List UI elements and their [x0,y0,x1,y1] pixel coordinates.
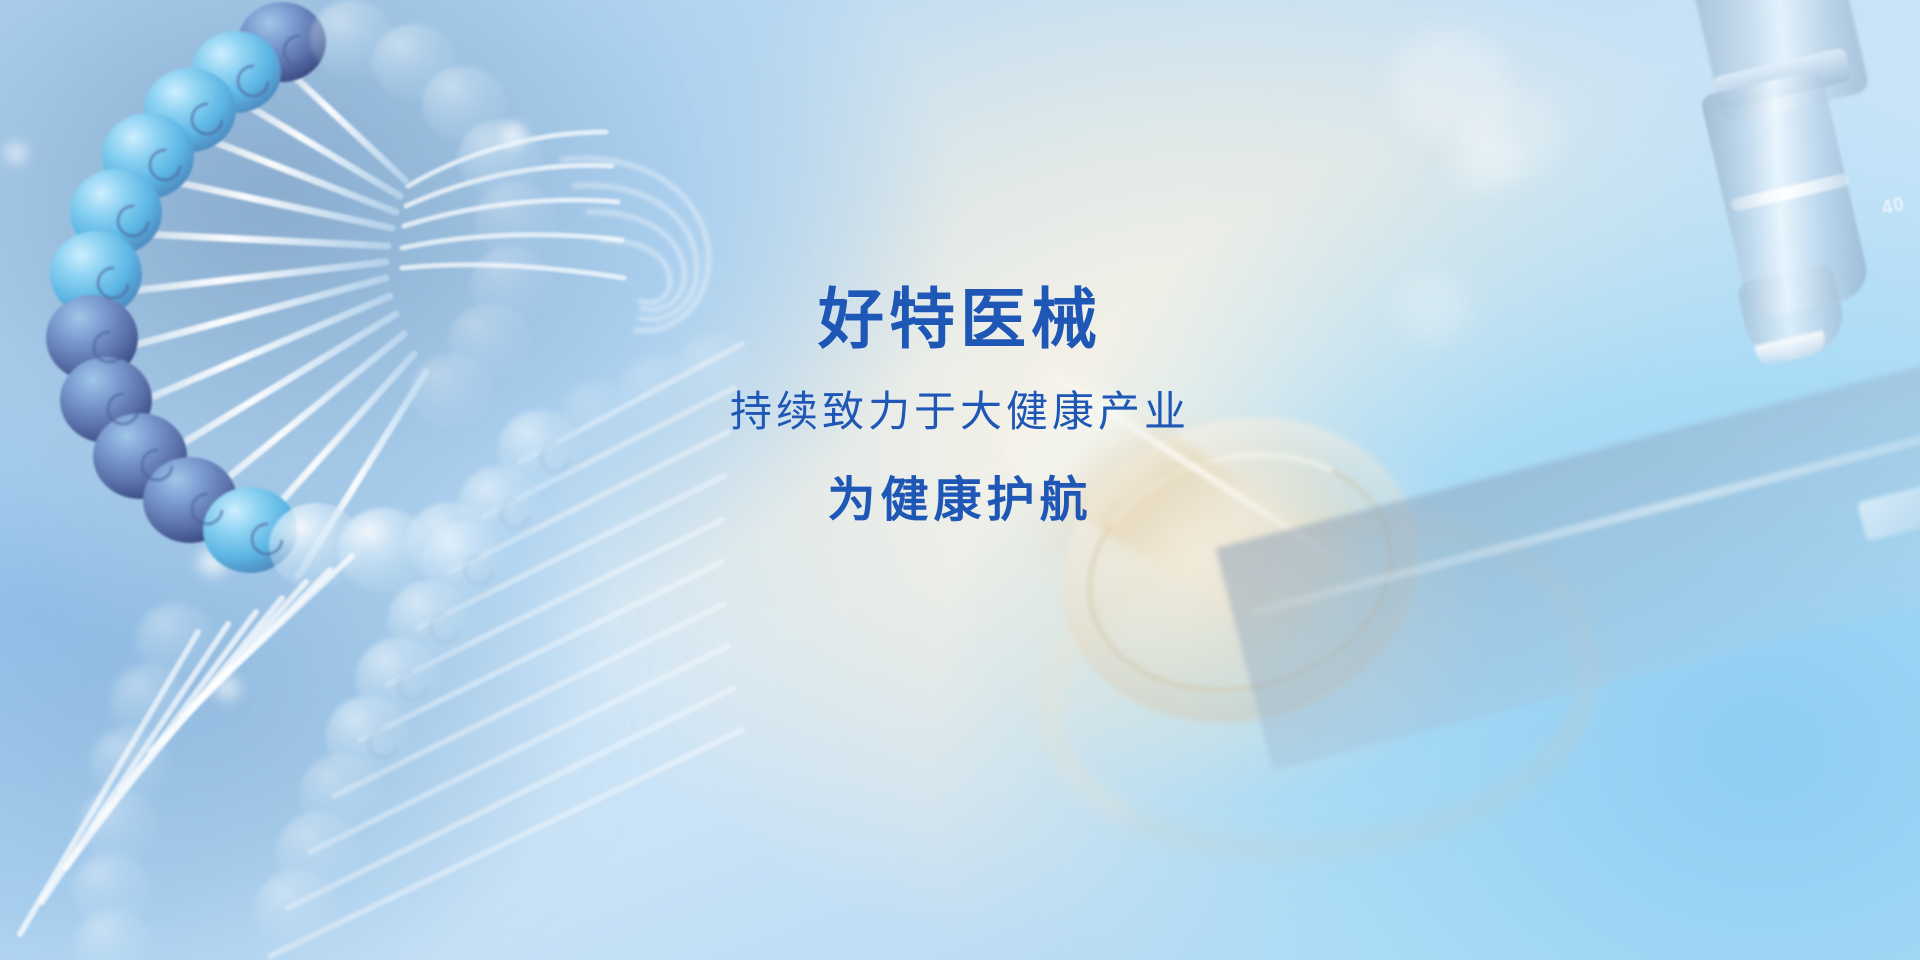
bokeh-highlight [4,142,28,164]
hero-subtitle: 持续致力于大健康产业 [0,387,1920,437]
bokeh-highlight [198,548,228,576]
bokeh-highlight [1450,126,1520,192]
page-title: 好特医械 [0,282,1920,357]
bokeh-highlight [500,124,526,148]
hero-banner: 40 [0,0,1920,960]
hero-tagline: 为健康护航 [0,472,1920,530]
bokeh-highlight [214,676,240,700]
hero-text-block: 好特医械 持续致力于大健康产业 为健康护航 [0,282,1920,529]
